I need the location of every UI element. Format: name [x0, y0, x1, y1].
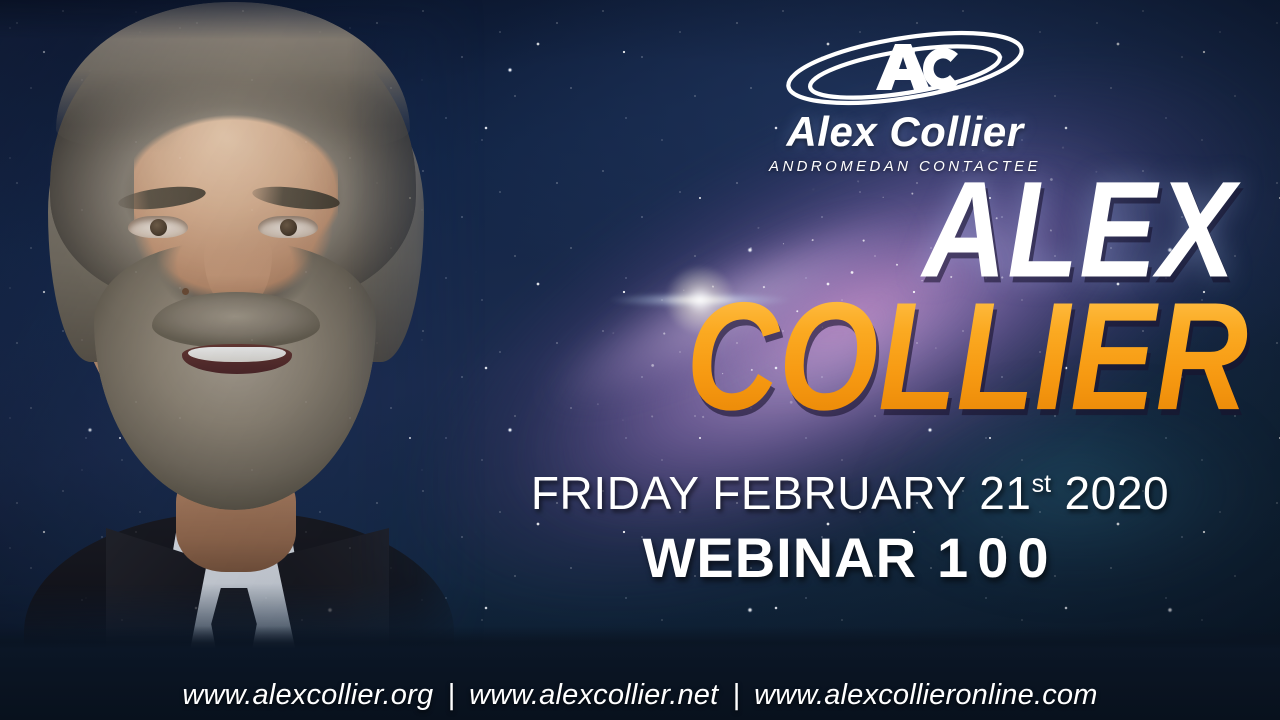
ac-oval-swoosh-logo-icon	[780, 28, 1030, 110]
footer-website-list: www.alexcollier.org|www.alexcollier.net|…	[0, 679, 1280, 712]
event-date-ordinal-suffix: st	[1032, 470, 1051, 498]
portrait-figure	[0, 0, 486, 664]
promo-poster: Alex Collier ANDROMEDAN CONTACTEE ALEX C…	[0, 0, 1280, 720]
footer-separator-2: |	[718, 679, 754, 711]
webinar-number: 100	[937, 526, 1057, 589]
footer-site-net[interactable]: www.alexcollier.net	[469, 679, 718, 711]
event-title: ALEX COLLIER	[440, 186, 1260, 426]
event-date-year: 2020	[1064, 467, 1169, 519]
webinar-label: WEBINAR	[643, 526, 918, 589]
footer-site-online[interactable]: www.alexcollieronline.com	[754, 679, 1097, 711]
portrait-star-grain	[0, 0, 486, 664]
webinar-heading: WEBINAR100	[440, 525, 1260, 590]
event-date-prefix: FRIDAY FEBRUARY 21	[531, 467, 1032, 519]
event-date: FRIDAY FEBRUARY 21st 2020	[440, 466, 1260, 520]
brand-logo-block: Alex Collier ANDROMEDAN CONTACTEE	[740, 28, 1070, 175]
title-line-collier: COLLIER	[440, 288, 1260, 426]
footer-separator-1: |	[433, 679, 469, 711]
footer-site-org[interactable]: www.alexcollier.org	[182, 679, 433, 711]
brand-tagline: ANDROMEDAN CONTACTEE	[740, 158, 1070, 175]
portrait-photo	[0, 0, 486, 664]
brand-name: Alex Collier	[740, 108, 1070, 156]
